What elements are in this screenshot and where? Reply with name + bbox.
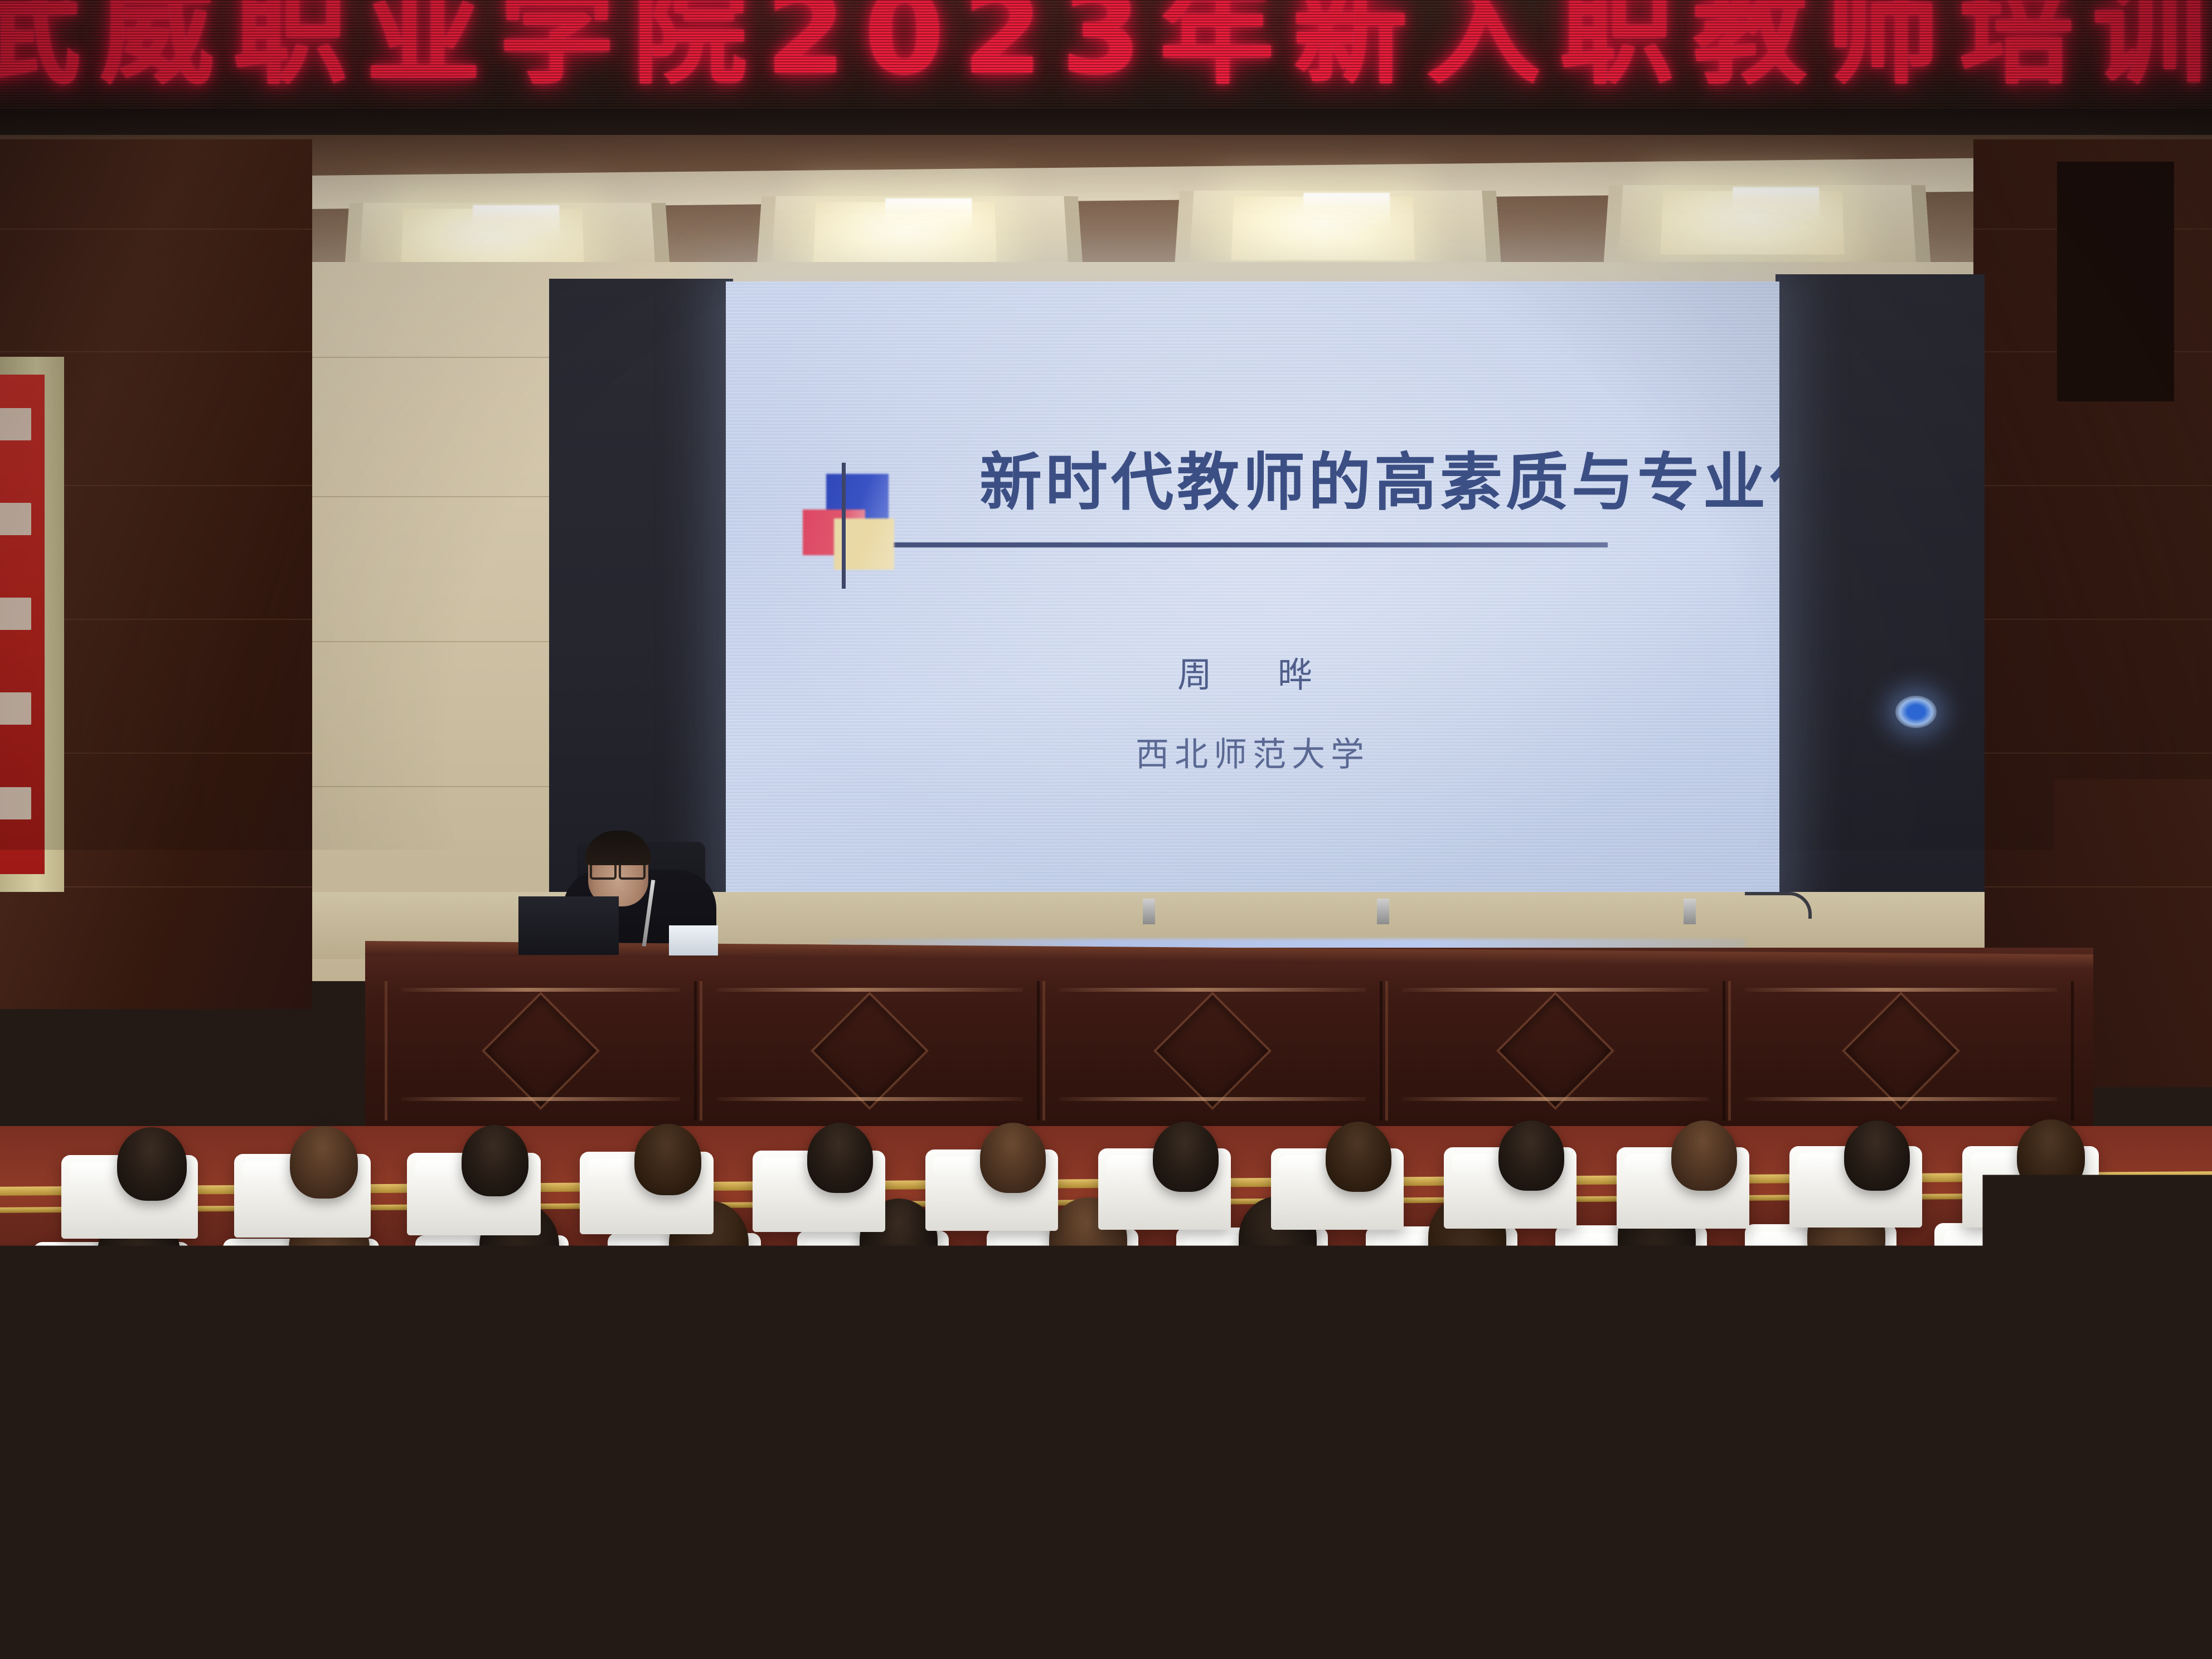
banner-glyph (0, 598, 31, 630)
table-panel-highlight (1745, 1097, 2057, 1101)
water-bottle (1508, 1197, 1542, 1258)
slide-horizontal-rule (822, 542, 1608, 547)
audience-person-head (462, 1125, 528, 1196)
speaker-glasses-icon (590, 861, 646, 873)
wood-seam (1973, 485, 2212, 486)
tissue-box (669, 925, 718, 955)
right-wall-recess (2057, 162, 2174, 401)
audience-person-head (1326, 1122, 1391, 1192)
diamond-carving (1496, 992, 1614, 1110)
wood-seam (0, 229, 312, 230)
table-microphone-2 (1377, 899, 1389, 924)
red-wall-banner (0, 375, 45, 874)
foreground-person-head (663, 1444, 847, 1659)
audience-person-head (1671, 1120, 1737, 1191)
diamond-carving (1153, 992, 1272, 1110)
table-panel-highlight (401, 988, 680, 992)
speaker-laptop (518, 896, 619, 955)
audience-person-head (117, 1127, 187, 1201)
table-panel-highlight (401, 1097, 680, 1101)
lecture-hall-photo: 武威职业学院2023年新入职教师培训专题 新时代教师的高素质与专业化 周 晔 西… (0, 0, 2212, 1659)
table-lamp-arm (1745, 892, 1812, 919)
banner-glyph (0, 408, 31, 440)
audience-person-head (1153, 1122, 1219, 1192)
diamond-carving (482, 992, 600, 1110)
ceiling-lamp-icon (472, 205, 560, 241)
screen-right-dark-panel (1776, 274, 1985, 946)
table-panel-highlight (716, 988, 1023, 992)
motif-vertical-line (842, 463, 846, 589)
audience-person-head (1844, 1120, 1910, 1191)
table-panel-highlight (1745, 988, 2057, 992)
wood-seam (1973, 753, 2212, 754)
table-microphone-1 (1143, 899, 1155, 924)
table-panel-highlight (1059, 1097, 1366, 1101)
banner-glyph (0, 503, 31, 535)
audience-chair (1951, 1438, 2212, 1659)
audience-chair (886, 1494, 1199, 1659)
baseball-cap-icon (468, 1215, 588, 1291)
banner-glyph (0, 692, 31, 725)
audience-person-head (634, 1124, 701, 1195)
diamond-carving (811, 992, 929, 1110)
wood-seam (0, 351, 312, 352)
table-panel-highlight (716, 1097, 1023, 1101)
foreground-person-head (1410, 1483, 1578, 1659)
slide-affiliation: 西北师范大学 (726, 727, 1779, 776)
slide-presenter-name: 周 晔 (726, 647, 1779, 697)
slide-decorative-motif (803, 463, 903, 591)
ceiling-lamp-icon (1732, 187, 1820, 224)
audience-person-head (807, 1123, 873, 1193)
water-bottle (375, 1171, 414, 1232)
audience-person-head (290, 1126, 358, 1199)
audience-person-head (980, 1123, 1046, 1193)
table-panel-highlight (1402, 988, 1709, 992)
projection-screen: 新时代教师的高素质与专业化 周 晔 西北师范大学 (726, 282, 1779, 909)
ceiling-lamp-icon (1303, 193, 1391, 229)
led-banner: 武威职业学院2023年新入职教师培训专题 (0, 0, 2212, 124)
audience-chair (1605, 1500, 1918, 1659)
led-banner-text: 武威职业学院2023年新入职教师培训专题 (0, 0, 2212, 91)
audience-person-head (1498, 1120, 1564, 1191)
banner-glyph (0, 787, 31, 819)
wood-seam (1973, 619, 2212, 620)
banner-shadow (0, 109, 2212, 135)
wood-seam (1973, 886, 2212, 887)
audience-person-head (2017, 1119, 2085, 1192)
diamond-carving (1842, 992, 1960, 1110)
table-panel-highlight (1402, 1097, 1709, 1101)
slide-title: 新时代教师的高素质与专业化 (979, 432, 1779, 522)
blue-indicator-light (1895, 696, 1937, 728)
ceiling-lamp-icon (885, 198, 973, 235)
table-microphone-3 (1684, 899, 1696, 924)
table-panel-highlight (1059, 988, 1366, 992)
